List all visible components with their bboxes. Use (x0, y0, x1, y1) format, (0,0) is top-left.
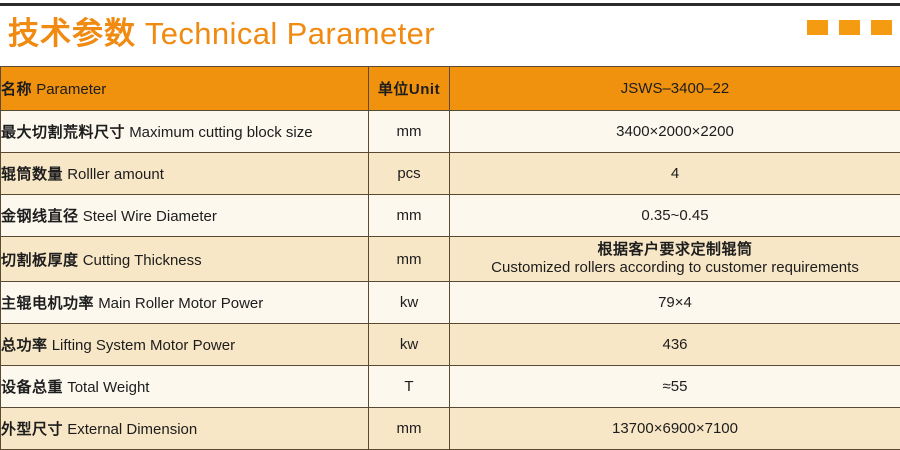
unit-value: mm (397, 251, 422, 268)
table-row: 外型尺寸 External Dimensionmm13700×6900×7100 (1, 408, 900, 450)
parameter-en: Steel Wire Diameter (83, 208, 217, 225)
value-primary: 根据客户要求定制辊筒 (450, 241, 900, 259)
unit-value: kw (400, 294, 418, 311)
cell-unit: T (369, 366, 450, 408)
table-row: 最大切割荒料尺寸 Maximum cutting block sizemm340… (1, 111, 900, 153)
table-header-row: 名称 Parameter 单位Unit JSWS–3400–22 (1, 67, 900, 111)
cell-parameter: 切割板厚度 Cutting Thickness (1, 237, 369, 282)
parameter-cn: 主辊电机功率 (1, 295, 94, 312)
table-row: 总功率 Lifting System Motor Powerkw436 (1, 324, 900, 366)
parameter-cn: 金钢线直径 (1, 208, 79, 225)
cell-value: 0.35~0.45 (450, 195, 900, 237)
parameter-en: Cutting Thickness (83, 252, 202, 269)
unit-value: mm (397, 123, 422, 140)
table-row: 设备总重 Total WeightT≈55 (1, 366, 900, 408)
cell-unit: mm (369, 111, 450, 153)
cell-value: 13700×6900×7100 (450, 408, 900, 450)
cell-parameter: 外型尺寸 External Dimension (1, 408, 369, 450)
parameter-en: Total Weight (67, 379, 149, 396)
parameter-en: Maximum cutting block size (129, 124, 312, 141)
parameter-en: Main Roller Motor Power (98, 295, 263, 312)
table-row: 辊筒数量 Rolller amountpcs4 (1, 153, 900, 195)
cell-parameter: 设备总重 Total Weight (1, 366, 369, 408)
header-model-label: JSWS–3400–22 (621, 80, 729, 97)
unit-value: mm (397, 207, 422, 224)
header-parameter-cn: 名称 (1, 81, 32, 98)
cell-value: 4 (450, 153, 900, 195)
decor-square-2 (839, 20, 860, 35)
unit-value: kw (400, 336, 418, 353)
parameter-en: Rolller amount (67, 166, 164, 183)
header-cell-unit: 单位Unit (369, 67, 450, 111)
value-primary: 13700×6900×7100 (612, 420, 738, 437)
unit-value: T (404, 378, 413, 395)
spec-table-wrapper: 名称 Parameter 单位Unit JSWS–3400–22 最大切割荒料尺… (0, 66, 900, 450)
value-primary: 4 (671, 165, 679, 182)
parameter-cn: 总功率 (1, 337, 48, 354)
cell-parameter: 金钢线直径 Steel Wire Diameter (1, 195, 369, 237)
table-row: 金钢线直径 Steel Wire Diametermm0.35~0.45 (1, 195, 900, 237)
value-secondary: Customized rollers according to customer… (450, 259, 900, 277)
decorative-squares (807, 20, 892, 35)
cell-unit: pcs (369, 153, 450, 195)
cell-parameter: 主辊电机功率 Main Roller Motor Power (1, 282, 369, 324)
cell-value: 根据客户要求定制辊筒Customized rollers according t… (450, 237, 900, 282)
parameter-cn: 辊筒数量 (1, 166, 63, 183)
spec-sheet-page: 技术参数 Technical Parameter 名称 Parameter (0, 0, 900, 449)
unit-value: pcs (397, 165, 420, 182)
technical-parameter-table: 名称 Parameter 单位Unit JSWS–3400–22 最大切割荒料尺… (0, 66, 900, 450)
header-cell-model: JSWS–3400–22 (450, 67, 900, 111)
cell-unit: kw (369, 282, 450, 324)
parameter-cn: 最大切割荒料尺寸 (1, 124, 125, 141)
cell-parameter: 最大切割荒料尺寸 Maximum cutting block size (1, 111, 369, 153)
parameter-cn: 切割板厚度 (1, 252, 79, 269)
value-primary: 436 (662, 336, 687, 353)
cell-unit: mm (369, 237, 450, 282)
page-title-en: Technical Parameter (145, 16, 435, 51)
cell-unit: kw (369, 324, 450, 366)
header-unit-label: 单位Unit (378, 81, 440, 98)
parameter-cn: 外型尺寸 (1, 421, 63, 438)
page-title-cn: 技术参数 (8, 16, 136, 51)
unit-value: mm (397, 420, 422, 437)
cell-parameter: 辊筒数量 Rolller amount (1, 153, 369, 195)
header-cell-parameter: 名称 Parameter (1, 67, 369, 111)
cell-value: 436 (450, 324, 900, 366)
title-band: 技术参数 Technical Parameter (0, 6, 900, 63)
parameter-en: External Dimension (67, 421, 197, 438)
header-parameter-en: Parameter (36, 81, 106, 98)
value-primary: 79×4 (658, 294, 692, 311)
cell-value: ≈55 (450, 366, 900, 408)
value-primary: 3400×2000×2200 (616, 123, 734, 140)
decor-square-3 (871, 20, 892, 35)
table-row: 主辊电机功率 Main Roller Motor Powerkw79×4 (1, 282, 900, 324)
cell-value: 79×4 (450, 282, 900, 324)
table-row: 切割板厚度 Cutting Thicknessmm根据客户要求定制辊筒Custo… (1, 237, 900, 282)
value-primary: 0.35~0.45 (641, 207, 708, 224)
decor-square-1 (807, 20, 828, 35)
page-title: 技术参数 Technical Parameter (8, 14, 435, 54)
cell-unit: mm (369, 408, 450, 450)
cell-value: 3400×2000×2200 (450, 111, 900, 153)
value-primary: ≈55 (663, 378, 688, 395)
parameter-cn: 设备总重 (1, 379, 63, 396)
cell-parameter: 总功率 Lifting System Motor Power (1, 324, 369, 366)
cell-unit: mm (369, 195, 450, 237)
parameter-en: Lifting System Motor Power (52, 337, 235, 354)
